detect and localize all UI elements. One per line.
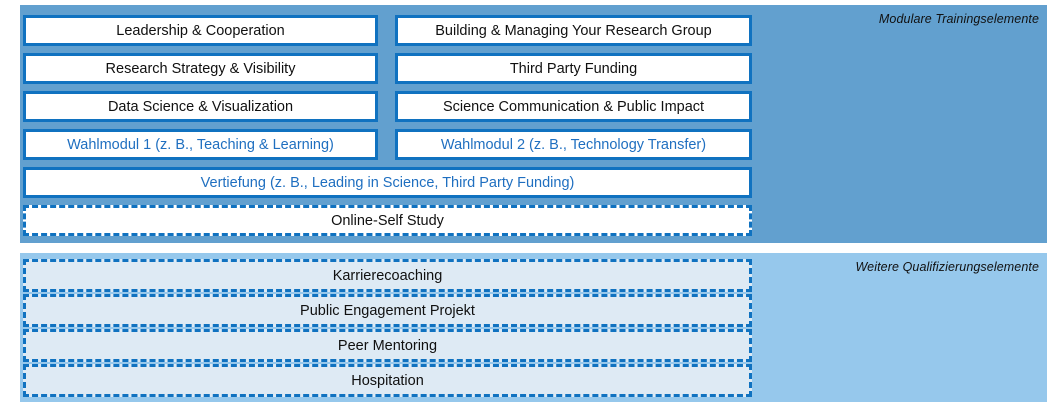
module-online-self-study[interactable]: Online-Self Study <box>23 205 752 236</box>
module-wahlmodul-2[interactable]: Wahlmodul 2 (z. B., Technology Transfer) <box>395 129 752 160</box>
further-qualification-elements-panel: Weitere Qualifizierungselemente Karriere… <box>20 253 1047 402</box>
module-science-communication-and-public-impact[interactable]: Science Communication & Public Impact <box>395 91 752 122</box>
panel-title-modular-training-elements: Modulare Trainingselemente <box>879 12 1039 26</box>
modular-training-elements-panel: Modulare Trainingselemente Leadership & … <box>20 5 1047 243</box>
qualification-program-diagram: Modulare Trainingselemente Leadership & … <box>0 0 1060 418</box>
module-vertiefung[interactable]: Vertiefung (z. B., Leading in Science, T… <box>23 167 752 198</box>
module-building-and-managing-your-research-group[interactable]: Building & Managing Your Research Group <box>395 15 752 46</box>
module-research-strategy-and-visibility[interactable]: Research Strategy & Visibility <box>23 53 378 84</box>
module-data-science-and-visualization[interactable]: Data Science & Visualization <box>23 91 378 122</box>
qualification-hospitation[interactable]: Hospitation <box>23 364 752 397</box>
qualification-karrierecoaching[interactable]: Karrierecoaching <box>23 259 752 292</box>
qualification-peer-mentoring[interactable]: Peer Mentoring <box>23 329 752 362</box>
module-third-party-funding[interactable]: Third Party Funding <box>395 53 752 84</box>
qualification-public-engagement-projekt[interactable]: Public Engagement Projekt <box>23 294 752 327</box>
module-wahlmodul-1[interactable]: Wahlmodul 1 (z. B., Teaching & Learning) <box>23 129 378 160</box>
panel-title-further-qualification-elements: Weitere Qualifizierungselemente <box>855 260 1039 274</box>
module-leadership-and-cooperation[interactable]: Leadership & Cooperation <box>23 15 378 46</box>
